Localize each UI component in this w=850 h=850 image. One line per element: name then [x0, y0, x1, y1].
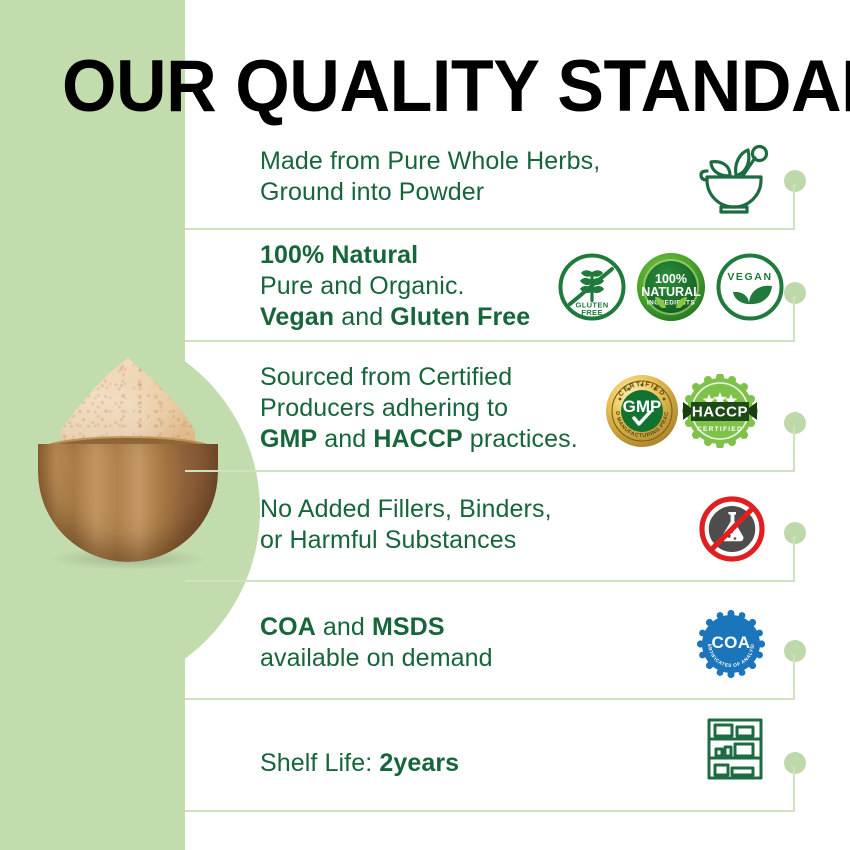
standard-row-shelf-life: Shelf Life: 2years — [185, 700, 850, 812]
row-icons-natural-organic: GLUTEN FREE — [557, 252, 785, 322]
row-connector-dot — [784, 522, 806, 544]
row-text-line: Shelf Life: 2years — [260, 748, 459, 779]
row-text-line: Pure and Organic. — [260, 271, 530, 302]
row-text-line: Ground into Powder — [260, 177, 600, 208]
row-text-whole-herbs: Made from Pure Whole Herbs,Ground into P… — [260, 146, 600, 208]
row-text-plain: and — [334, 303, 390, 331]
row-text-line: available on demand — [260, 643, 493, 674]
row-text-plain: practices. — [463, 425, 578, 453]
row-connector-dot — [784, 640, 806, 662]
row-text-plain: Sourced from Certified — [260, 363, 512, 391]
row-text-line: 100% Natural — [260, 240, 530, 271]
row-connector-dot — [784, 282, 806, 304]
row-icons-no-fillers — [697, 494, 767, 564]
row-text-plain: or Harmful Substances — [260, 526, 516, 554]
mortar-and-pestle-icon — [695, 144, 773, 216]
row-connector-stub — [793, 426, 795, 472]
row-text-line: COA and MSDS — [260, 612, 493, 643]
svg-text:HACCP: HACCP — [692, 404, 748, 421]
row-text-emphasis: GMP — [260, 425, 317, 453]
standard-row-whole-herbs: Made from Pure Whole Herbs,Ground into P… — [185, 130, 850, 230]
row-text-emphasis: 100% Natural — [260, 241, 418, 269]
svg-text:NATURAL: NATURAL — [641, 285, 701, 299]
standard-row-certified-producers: Sourced from CertifiedProducers adhering… — [185, 342, 850, 472]
100-percent-natural-badge: 100% NATURAL INGREDIENTS — [636, 252, 706, 322]
vegan-badge: VEGAN — [715, 252, 785, 322]
row-icons-whole-herbs — [695, 144, 773, 216]
row-divider — [185, 810, 795, 812]
standard-row-natural-organic: 100% NaturalPure and Organic.Vegan and G… — [185, 230, 850, 342]
svg-text:GMP: GMP — [623, 397, 662, 416]
gmp-certified-badge: CERTIFIED GOOD MANUFACTURING PRACTICE GM… — [605, 374, 679, 448]
row-connector-stub — [793, 654, 795, 700]
row-text-emphasis: Gluten Free — [390, 303, 530, 331]
row-text-certified-producers: Sourced from CertifiedProducers adhering… — [260, 362, 578, 455]
infographic-canvas: OUR QUALITY STANDARDS Made from Pure Who… — [0, 0, 850, 850]
coa-badge: COA CERTIFICATES OF ANALYSIS — [697, 610, 765, 678]
row-text-plain: Pure and Organic. — [260, 272, 465, 300]
row-text-plain: Ground into Powder — [260, 178, 484, 206]
row-text-line: Vegan and Gluten Free — [260, 302, 530, 333]
row-text-no-fillers: No Added Fillers, Binders,or Harmful Sub… — [260, 494, 552, 556]
row-connector-dot — [784, 752, 806, 774]
row-text-plain: No Added Fillers, Binders, — [260, 495, 552, 523]
svg-text:INGREDIENTS: INGREDIENTS — [647, 300, 695, 307]
row-text-plain: and — [317, 425, 373, 453]
row-text-line: Producers adhering to — [260, 393, 578, 424]
row-text-line: Sourced from Certified — [260, 362, 578, 393]
row-text-shelf-life: Shelf Life: 2years — [260, 748, 459, 779]
row-text-line: or Harmful Substances — [260, 525, 552, 556]
svg-text:VEGAN: VEGAN — [727, 271, 772, 283]
row-text-emphasis: MSDS — [372, 613, 445, 641]
row-text-plain: available on demand — [260, 644, 493, 672]
svg-text:COA: COA — [712, 633, 751, 652]
gluten-free-badge: GLUTEN FREE — [557, 252, 627, 322]
row-text-plain: Made from Pure Whole Herbs, — [260, 147, 600, 175]
haccp-certified-badge: HACCP CERTIFIED — [681, 374, 759, 448]
row-connector-dot — [784, 170, 806, 192]
svg-text:100%: 100% — [655, 272, 687, 286]
svg-text:FREE: FREE — [581, 308, 602, 317]
standard-row-no-fillers: No Added Fillers, Binders,or Harmful Sub… — [185, 472, 850, 582]
row-text-emphasis: 2years — [379, 749, 459, 777]
row-connector-stub — [793, 536, 795, 582]
row-icons-certified-producers: CERTIFIED GOOD MANUFACTURING PRACTICE GM… — [605, 374, 759, 448]
row-text-plain: Producers adhering to — [260, 394, 508, 422]
standards-list: Made from Pure Whole Herbs,Ground into P… — [0, 0, 850, 850]
row-text-emphasis: HACCP — [373, 425, 462, 453]
svg-text:CERTIFIED: CERTIFIED — [697, 426, 743, 433]
row-text-line: Made from Pure Whole Herbs, — [260, 146, 600, 177]
no-chemicals-icon — [697, 494, 767, 564]
row-text-emphasis: Vegan — [260, 303, 334, 331]
row-text-line: GMP and HACCP practices. — [260, 424, 578, 455]
row-icons-shelf-life — [703, 716, 767, 782]
row-text-emphasis: COA — [260, 613, 316, 641]
standard-row-coa-msds: COA and MSDSavailable on demand — [185, 582, 850, 700]
row-text-plain: Shelf Life: — [260, 749, 379, 777]
storage-shelf-icon — [703, 716, 767, 782]
row-icons-coa-msds: COA CERTIFICATES OF ANALYSIS — [697, 610, 765, 678]
row-text-line: No Added Fillers, Binders, — [260, 494, 552, 525]
row-text-plain: and — [316, 613, 372, 641]
row-connector-stub — [793, 766, 795, 812]
row-connector-stub — [793, 184, 795, 230]
row-connector-dot — [784, 412, 806, 434]
row-text-coa-msds: COA and MSDSavailable on demand — [260, 612, 493, 674]
row-connector-stub — [793, 296, 795, 342]
row-text-natural-organic: 100% NaturalPure and Organic.Vegan and G… — [260, 240, 530, 333]
